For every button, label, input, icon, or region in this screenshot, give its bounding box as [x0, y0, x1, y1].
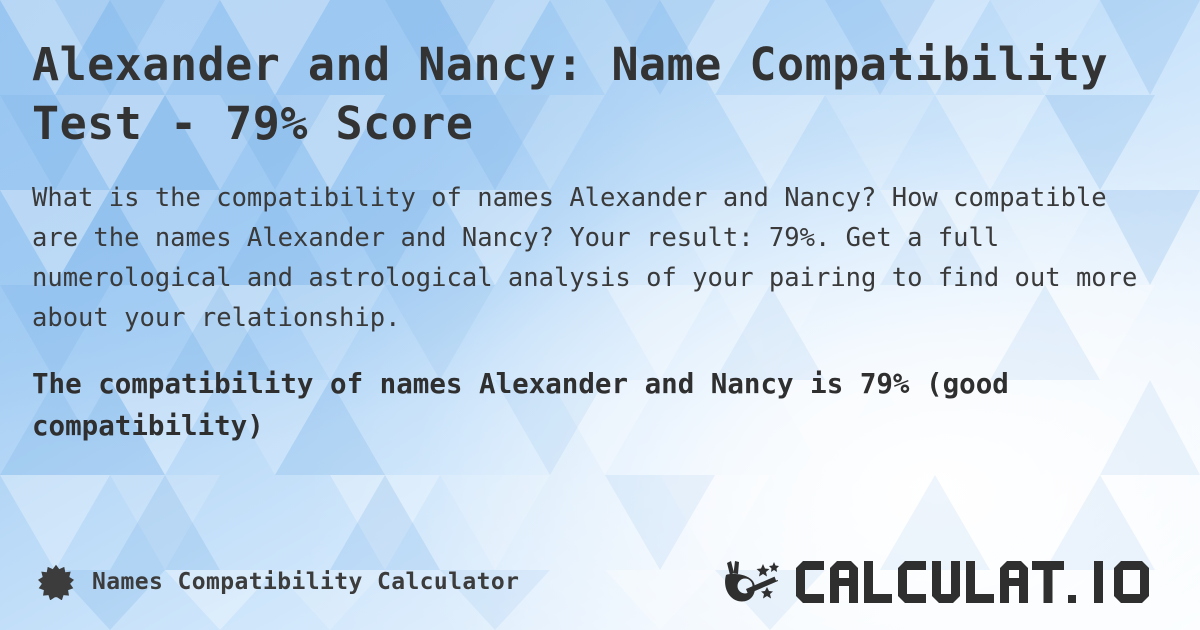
- magic-wand-hand-icon: [724, 560, 786, 604]
- calculatio-logo[interactable]: [724, 560, 1164, 604]
- page-title: Alexander and Nancy: Name Compatibility …: [32, 36, 1168, 153]
- brand-block: Names Compatibility Calculator: [38, 564, 519, 600]
- social-share-card: Alexander and Nancy: Name Compatibility …: [0, 0, 1200, 630]
- compatibility-result-statement: The compatibility of names Alexander and…: [32, 364, 1168, 448]
- starburst-icon: [38, 564, 74, 600]
- card-footer: Names Compatibility Calculator: [0, 534, 1200, 630]
- calculatio-tld: [1092, 560, 1164, 604]
- brand-label: Names Compatibility Calculator: [92, 569, 519, 595]
- calculatio-wordmark: [794, 560, 1084, 604]
- page-description: What is the compatibility of names Alexa…: [32, 178, 1168, 338]
